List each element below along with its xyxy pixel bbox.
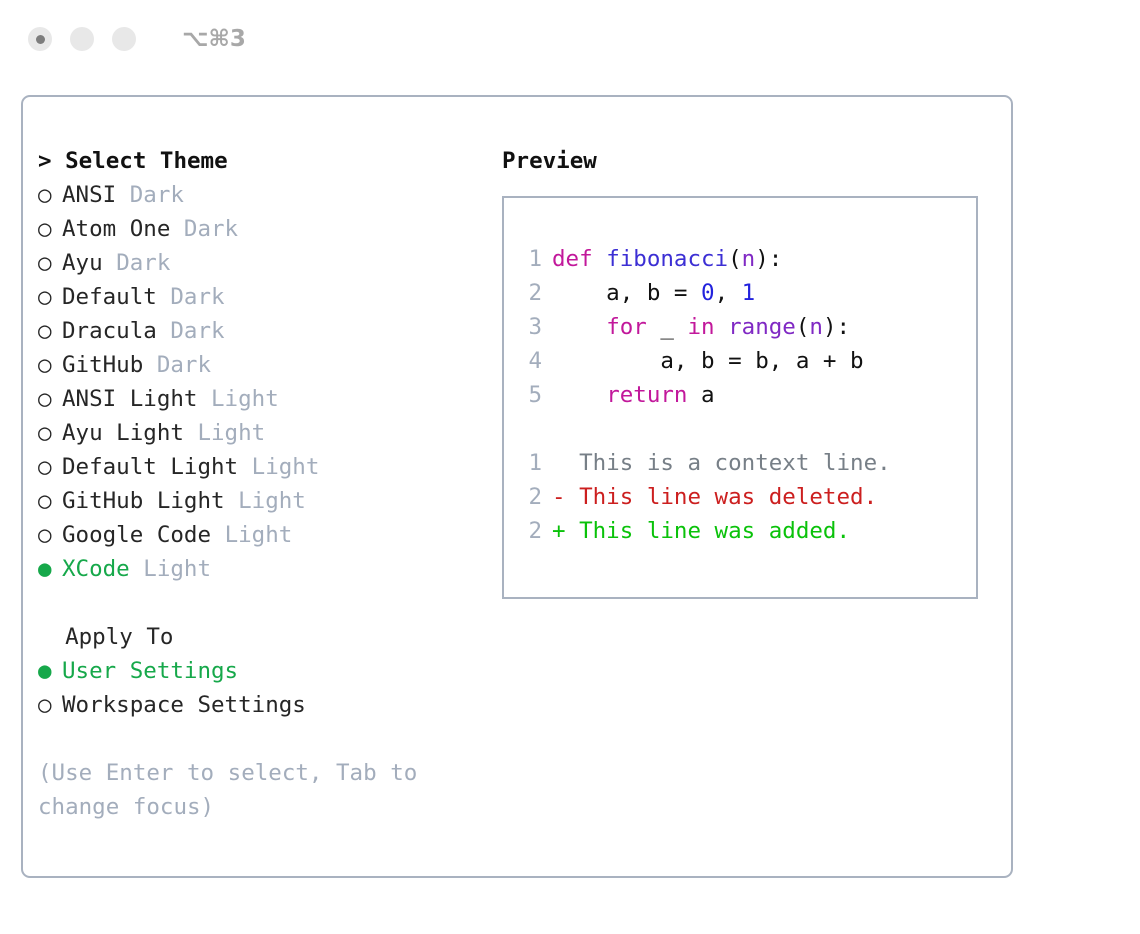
diff-text: This is a context line. [579,450,891,476]
code-token-plain [715,314,729,340]
code-token-plain: , [715,280,742,306]
theme-option-kind: Light [238,488,306,514]
code-line: 2 a, b = 0, 1 [518,276,976,310]
theme-option-kind: Light [252,454,320,480]
code-token-var: n [809,314,823,340]
theme-picker-window: ⌥⌘3 > Select Theme ○ANSI Dark○Atom One D… [0,0,1140,934]
theme-option-label: Google Code [62,522,211,548]
theme-option-ansi[interactable]: ○ANSI Dark [38,178,488,212]
section-spacer [38,586,488,620]
theme-option-ansi-light[interactable]: ○ANSI Light Light [38,382,488,416]
radio-unselected-icon: ○ [38,688,62,722]
theme-option-kind: Dark [170,284,224,310]
theme-option-dracula[interactable]: ○Dracula Dark [38,314,488,348]
apply-to-option-workspace-settings[interactable]: ○Workspace Settings [38,688,488,722]
line-number: 2 [518,276,542,310]
theme-list-column: > Select Theme ○ANSI Dark○Atom One Dark○… [38,144,488,824]
radio-unselected-icon: ○ [38,518,62,552]
apply-to-option-label: User Settings [62,658,238,684]
code-token-fn: fibonacci [606,246,728,272]
main-panel: > Select Theme ○ANSI Dark○Atom One Dark○… [21,95,1013,878]
theme-option-kind: Light [197,420,265,446]
theme-option-default-light[interactable]: ○Default Light Light [38,450,488,484]
line-number: 1 [518,446,542,480]
code-token-plain: a, b = b, a + b [552,348,864,374]
theme-option-ayu-light[interactable]: ○Ayu Light Light [38,416,488,450]
record-dot-icon[interactable] [28,27,52,51]
radio-selected-icon: ● [38,654,62,688]
code-token-plain: a, b = [552,280,701,306]
code-token-plain [593,246,607,272]
diff-text: This line was deleted. [579,484,877,510]
diff-text: This line was added. [579,518,850,544]
theme-option-kind: Dark [157,352,211,378]
theme-option-kind: Light [211,386,279,412]
theme-option-label: GitHub Light [62,488,225,514]
radio-unselected-icon: ○ [38,178,62,212]
radio-selected-icon: ● [38,552,62,586]
theme-option-kind: Dark [184,216,238,242]
theme-option-xcode[interactable]: ●XCode Light [38,552,488,586]
code-token-plain [552,314,606,340]
code-token-plain: ( [728,246,742,272]
line-number: 1 [518,242,542,276]
dot-three-icon[interactable] [112,27,136,51]
code-token-kw: return [606,382,687,408]
diff-sample: 1 This is a context line.2- This line wa… [518,446,976,548]
code-token-var: n [742,246,756,272]
preview-heading: Preview [502,144,992,178]
keyboard-hint-text: (Use Enter to select, Tab to change focu… [38,756,458,824]
theme-option-atom-one[interactable]: ○Atom One Dark [38,212,488,246]
hint-spacer [38,722,488,756]
theme-option-kind: Light [143,556,211,582]
code-token-kw: for [606,314,647,340]
apply-to-option-label: Workspace Settings [62,692,306,718]
radio-unselected-icon: ○ [38,416,62,450]
theme-option-label: Atom One [62,216,170,242]
preview-column: Preview 1def fibonacci(n):2 a, b = 0, 13… [502,144,992,599]
theme-option-default[interactable]: ○Default Dark [38,280,488,314]
code-token-plain: _ [647,314,688,340]
diff-spacer [518,412,976,446]
radio-unselected-icon: ○ [38,212,62,246]
apply-to-option-user-settings[interactable]: ●User Settings [38,654,488,688]
theme-option-label: XCode [62,556,130,582]
theme-option-google-code[interactable]: ○Google Code Light [38,518,488,552]
apply-to-option-list: ●User Settings○Workspace Settings [38,654,488,722]
code-token-plain: ( [796,314,810,340]
window-controls [28,27,136,51]
dot-two-icon[interactable] [70,27,94,51]
record-dot-inner [36,35,45,44]
diff-line: 1 This is a context line. [518,446,976,480]
code-token-var: range [728,314,796,340]
preview-box: 1def fibonacci(n):2 a, b = 0, 13 for _ i… [502,196,978,599]
diff-marker [552,450,579,476]
keyboard-shortcut-label: ⌥⌘3 [182,26,246,52]
radio-unselected-icon: ○ [38,314,62,348]
diff-line: 2+ This line was added. [518,514,976,548]
line-number: 2 [518,514,542,548]
apply-to-heading: Apply To [38,620,488,654]
code-line: 3 for _ in range(n): [518,310,976,344]
theme-option-ayu[interactable]: ○Ayu Dark [38,246,488,280]
theme-option-label: Default [62,284,157,310]
theme-option-label: ANSI [62,182,116,208]
code-line: 4 a, b = b, a + b [518,344,976,378]
code-token-plain: ): [755,246,782,272]
code-token-plain: a [687,382,714,408]
radio-unselected-icon: ○ [38,382,62,416]
window-titlebar: ⌥⌘3 [0,0,1140,78]
line-number: 2 [518,480,542,514]
theme-option-kind: Dark [130,182,184,208]
line-number: 5 [518,378,542,412]
radio-unselected-icon: ○ [38,246,62,280]
theme-option-github[interactable]: ○GitHub Dark [38,348,488,382]
theme-option-label: Ayu [62,250,103,276]
theme-option-kind: Light [225,522,293,548]
line-number: 3 [518,310,542,344]
radio-unselected-icon: ○ [38,450,62,484]
theme-option-label: GitHub [62,352,143,378]
theme-option-list: ○ANSI Dark○Atom One Dark○Ayu Dark○Defaul… [38,178,488,586]
code-token-kw: in [687,314,714,340]
code-token-num: 0 [701,280,715,306]
code-token-kw: def [552,246,593,272]
code-token-num: 1 [742,280,756,306]
code-token-plain: ): [823,314,850,340]
select-theme-heading: > Select Theme [38,144,488,178]
radio-unselected-icon: ○ [38,280,62,314]
theme-option-label: Dracula [62,318,157,344]
code-line: 5 return a [518,378,976,412]
theme-option-kind: Dark [170,318,224,344]
code-token-plain [552,382,606,408]
theme-option-label: ANSI Light [62,386,197,412]
diff-marker: + [552,518,579,544]
diff-marker: - [552,484,579,510]
theme-option-github-light[interactable]: ○GitHub Light Light [38,484,488,518]
radio-unselected-icon: ○ [38,348,62,382]
theme-option-label: Default Light [62,454,238,480]
theme-option-label: Ayu Light [62,420,184,446]
theme-option-kind: Dark [116,250,170,276]
radio-unselected-icon: ○ [38,484,62,518]
line-number: 4 [518,344,542,378]
code-line: 1def fibonacci(n): [518,242,976,276]
diff-line: 2- This line was deleted. [518,480,976,514]
code-sample: 1def fibonacci(n):2 a, b = 0, 13 for _ i… [518,242,976,412]
